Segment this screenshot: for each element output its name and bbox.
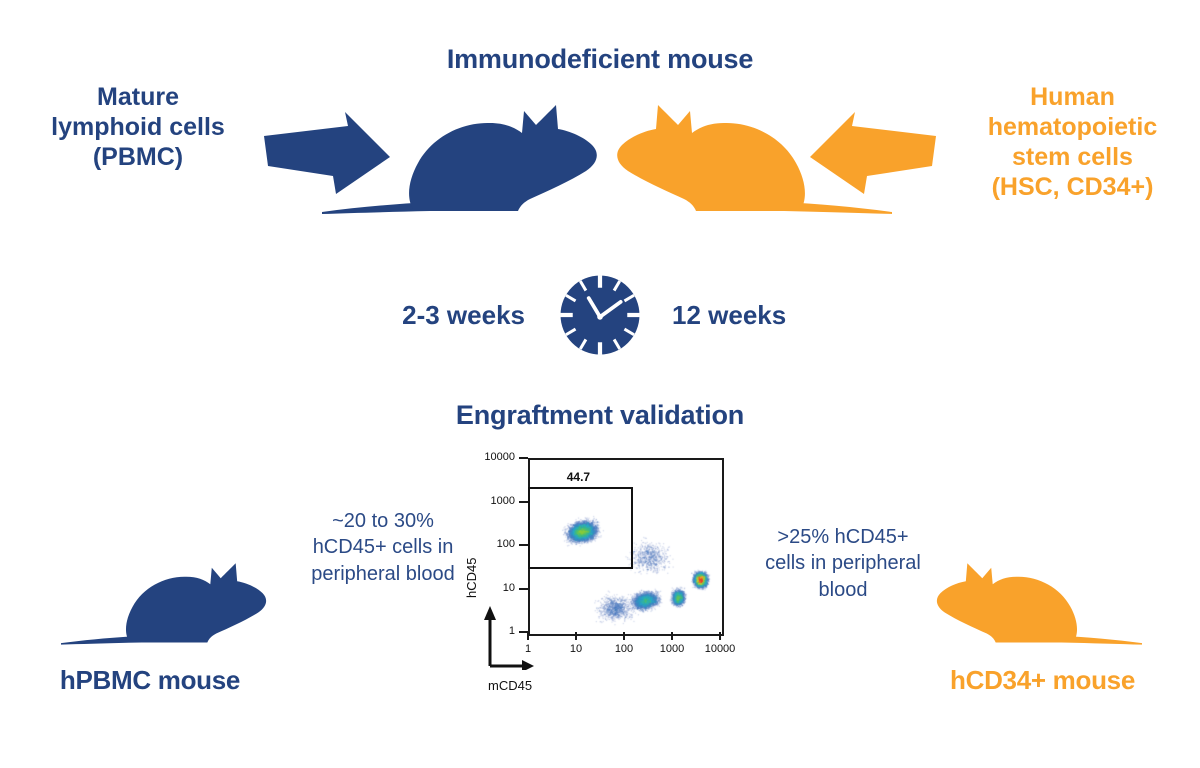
note-line: cells in peripheral: [738, 550, 948, 576]
y-tick-mark: [519, 501, 528, 503]
clock-icon: [553, 268, 647, 362]
duration-left: 2-3 weeks: [330, 300, 525, 331]
label-line: stem cells: [950, 142, 1195, 172]
note-right-engraftment: >25% hCD45+ cells in peripheral blood: [738, 524, 948, 603]
x-tick-mark: [671, 632, 673, 640]
note-line: >25% hCD45+: [738, 524, 948, 550]
mouse-silhouette-icon: [608, 95, 896, 220]
y-tick-mark: [519, 588, 528, 590]
y-tick-label: 100: [470, 538, 515, 550]
x-tick-mark: [719, 632, 721, 640]
label-hcd34-mouse: hCD34+ mouse: [910, 665, 1175, 696]
label-line: Human: [950, 82, 1195, 112]
label-hpbmc-mouse: hPBMC mouse: [20, 665, 280, 696]
label-line: lymphoid cells: [18, 112, 258, 142]
note-line: ~20 to 30%: [284, 508, 482, 534]
x-tick-mark: [575, 632, 577, 640]
flow-gate-value: 44.7: [567, 470, 590, 484]
x-tick-label: 1000: [650, 643, 694, 655]
mouse-silhouette-icon: [930, 555, 1145, 650]
x-tick-label: 100: [602, 643, 646, 655]
figure-canvas: Immunodeficient mouse Mature lymphoid ce…: [0, 0, 1200, 768]
axis-arrows-icon: [476, 600, 536, 670]
label-line: Mature: [18, 82, 258, 112]
flow-y-axis-label: hCD45: [464, 558, 479, 598]
y-tick-label: 10000: [470, 451, 515, 463]
note-left-engraftment: ~20 to 30% hCD45+ cells in peripheral bl…: [284, 508, 482, 587]
note-line: peripheral blood: [284, 561, 482, 587]
x-tick-label: 10000: [698, 643, 742, 655]
label-line: (PBMC): [18, 142, 258, 172]
y-tick-mark: [519, 457, 528, 459]
duration-right: 12 weeks: [672, 300, 882, 331]
x-tick-label: 10: [554, 643, 598, 655]
title-engraftment-validation: Engraftment validation: [390, 400, 810, 432]
mouse-silhouette-icon: [58, 555, 273, 650]
flow-gate-rectangle: [528, 487, 633, 569]
label-line: (HSC, CD34+): [950, 172, 1195, 202]
y-tick-label: 1000: [470, 495, 515, 507]
note-line: blood: [738, 577, 948, 603]
label-line: hematopoietic: [950, 112, 1195, 142]
flow-cytometry-plot: 44.7 110100100010000 110100100010000 hCD…: [470, 450, 740, 715]
mouse-silhouette-icon: [318, 95, 606, 220]
label-mature-lymphoid-cells: Mature lymphoid cells (PBMC): [18, 82, 258, 172]
title-immunodeficient-mouse: Immunodeficient mouse: [370, 44, 830, 76]
y-tick-mark: [519, 544, 528, 546]
label-human-hsc: Human hematopoietic stem cells (HSC, CD3…: [950, 82, 1195, 202]
x-tick-mark: [623, 632, 625, 640]
flow-x-axis-label: mCD45: [488, 678, 532, 693]
note-line: hCD45+ cells in: [284, 534, 482, 560]
